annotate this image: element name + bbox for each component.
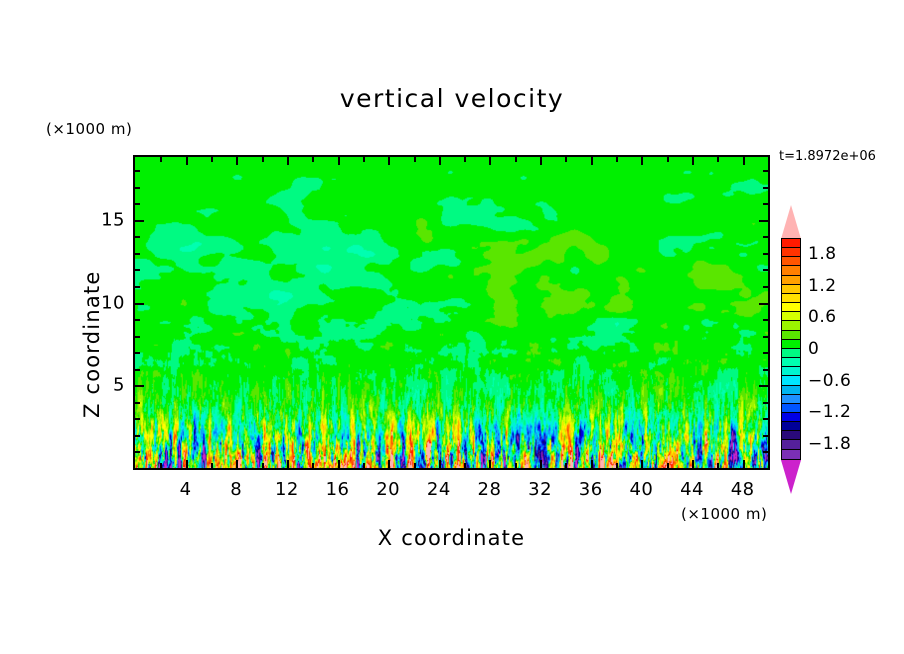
x-minor-tick: [262, 463, 264, 468]
x-minor-tick: [717, 463, 719, 468]
x-minor-tick: [616, 463, 618, 468]
colorbar-segment: [782, 312, 800, 321]
x-major-tick: [540, 460, 542, 468]
y-tick-right: [763, 336, 768, 338]
y-tick-right: [763, 369, 768, 371]
colorbar-segment: [782, 404, 800, 413]
y-major-tick: [135, 385, 144, 387]
vertical-velocity-field: [135, 157, 768, 468]
x-major-tick: [641, 460, 643, 468]
colorbar-segment: [782, 266, 800, 275]
y-tick-label: 5: [87, 375, 125, 396]
colorbar-segment: [782, 358, 800, 367]
y-tick-right: [763, 253, 768, 255]
colorbar-segments: [781, 238, 801, 460]
colorbar-segment: [782, 294, 800, 303]
colorbar-tick-label: −1.8: [808, 434, 851, 454]
colorbar-segment: [782, 422, 800, 431]
x-tick-top: [667, 157, 669, 162]
colorbar-segment: [782, 340, 800, 349]
x-minor-tick: [565, 463, 567, 468]
y-axis-units-label: (×1000 m): [46, 120, 132, 138]
x-major-tick: [186, 460, 188, 468]
x-minor-tick: [515, 463, 517, 468]
x-tick-top: [641, 157, 643, 165]
y-tick-right: [763, 170, 768, 172]
colorbar-segment: [782, 331, 800, 340]
colorbar-segment: [782, 349, 800, 358]
y-tick-right: [759, 220, 768, 222]
y-minor-tick: [135, 319, 140, 321]
colorbar-tick-label: −0.6: [808, 371, 851, 391]
x-tick-label: 4: [180, 479, 192, 500]
y-major-tick: [135, 303, 144, 305]
x-minor-tick: [160, 463, 162, 468]
y-tick-right: [759, 303, 768, 305]
y-minor-tick: [135, 170, 140, 172]
x-tick-top: [591, 157, 593, 165]
y-minor-tick: [135, 418, 140, 420]
colorbar-tick-label: −1.2: [808, 402, 851, 422]
colorbar-segment: [782, 431, 800, 440]
x-tick-top: [363, 157, 365, 162]
colorbar-segment: [782, 239, 800, 248]
y-tick-right: [759, 385, 768, 387]
x-axis-title: X coordinate: [133, 526, 770, 550]
x-tick-top: [743, 157, 745, 165]
y-tick-right: [763, 187, 768, 189]
y-minor-tick: [135, 286, 140, 288]
y-tick-right: [763, 418, 768, 420]
y-minor-tick: [135, 187, 140, 189]
colorbar-segment: [782, 440, 800, 449]
x-major-tick: [388, 460, 390, 468]
y-minor-tick: [135, 336, 140, 338]
y-tick-label: 15: [87, 209, 125, 230]
y-tick-label: 10: [87, 292, 125, 313]
x-tick-label: 40: [629, 479, 653, 500]
x-minor-tick: [211, 463, 213, 468]
x-tick-label: 36: [579, 479, 603, 500]
x-tick-top: [439, 157, 441, 165]
colorbar-segment: [782, 450, 800, 459]
y-minor-tick: [135, 402, 140, 404]
y-tick-right: [763, 236, 768, 238]
y-minor-tick: [135, 369, 140, 371]
x-tick-label: 48: [731, 479, 755, 500]
colorbar-segment: [782, 276, 800, 285]
x-tick-top: [186, 157, 188, 165]
colorbar-tick-label: 1.2: [808, 276, 837, 296]
y-tick-right: [763, 319, 768, 321]
colorbar-tick-label: 0.6: [808, 307, 837, 327]
x-tick-label: 28: [478, 479, 502, 500]
y-tick-right: [763, 451, 768, 453]
x-tick-label: 16: [326, 479, 350, 500]
x-tick-top: [160, 157, 162, 162]
x-tick-top: [464, 157, 466, 162]
x-tick-top: [414, 157, 416, 162]
y-major-tick: [135, 220, 144, 222]
y-tick-right: [763, 352, 768, 354]
x-tick-top: [565, 157, 567, 162]
y-minor-tick: [135, 352, 140, 354]
colorbar-segment: [782, 386, 800, 395]
x-major-tick: [287, 460, 289, 468]
x-tick-label: 44: [680, 479, 704, 500]
colorbar: [781, 205, 801, 495]
x-major-tick: [236, 460, 238, 468]
y-minor-tick: [135, 203, 140, 205]
y-minor-tick: [135, 253, 140, 255]
y-tick-right: [763, 435, 768, 437]
colorbar-segment: [782, 367, 800, 376]
x-tick-top: [515, 157, 517, 162]
x-major-tick: [338, 460, 340, 468]
colorbar-segment: [782, 395, 800, 404]
colorbar-segment: [782, 303, 800, 312]
x-tick-top: [388, 157, 390, 165]
y-tick-right: [763, 269, 768, 271]
x-major-tick: [489, 460, 491, 468]
contour-plot-area: [133, 155, 770, 470]
x-major-tick: [692, 460, 694, 468]
colorbar-tick-label: 1.8: [808, 244, 837, 264]
colorbar-segment: [782, 321, 800, 330]
colorbar-segment: [782, 257, 800, 266]
x-tick-label: 12: [275, 479, 299, 500]
x-tick-top: [489, 157, 491, 165]
colorbar-segment: [782, 248, 800, 257]
x-tick-top: [616, 157, 618, 162]
x-minor-tick: [414, 463, 416, 468]
x-tick-top: [211, 157, 213, 162]
x-tick-top: [338, 157, 340, 165]
colorbar-segment: [782, 285, 800, 294]
colorbar-segment: [782, 376, 800, 385]
y-minor-tick: [135, 451, 140, 453]
y-minor-tick: [135, 236, 140, 238]
x-tick-top: [262, 157, 264, 162]
x-tick-top: [312, 157, 314, 162]
x-major-tick: [591, 460, 593, 468]
colorbar-extend-over-arrow: [781, 205, 801, 239]
x-tick-top: [692, 157, 694, 165]
x-tick-label: 24: [427, 479, 451, 500]
x-tick-top: [540, 157, 542, 165]
plot-canvas: vertical velocity (×1000 m) (×1000 m) X …: [0, 0, 904, 654]
colorbar-extend-under-arrow: [781, 460, 801, 494]
x-minor-tick: [363, 463, 365, 468]
x-minor-tick: [312, 463, 314, 468]
x-axis-units-label: (×1000 m): [681, 505, 767, 523]
x-major-tick: [743, 460, 745, 468]
y-minor-tick: [135, 435, 140, 437]
y-tick-right: [763, 286, 768, 288]
x-tick-top: [287, 157, 289, 165]
x-tick-label: 20: [376, 479, 400, 500]
chart-title: vertical velocity: [0, 84, 904, 113]
x-tick-top: [236, 157, 238, 165]
y-tick-right: [763, 402, 768, 404]
y-minor-tick: [135, 269, 140, 271]
x-tick-top: [717, 157, 719, 162]
x-tick-label: 32: [528, 479, 552, 500]
colorbar-tick-label: 0: [808, 339, 819, 359]
x-major-tick: [439, 460, 441, 468]
x-minor-tick: [667, 463, 669, 468]
x-tick-label: 8: [230, 479, 242, 500]
y-tick-right: [763, 203, 768, 205]
timestamp-annotation: t=1.8972e+06: [779, 149, 876, 164]
colorbar-segment: [782, 413, 800, 422]
x-minor-tick: [464, 463, 466, 468]
